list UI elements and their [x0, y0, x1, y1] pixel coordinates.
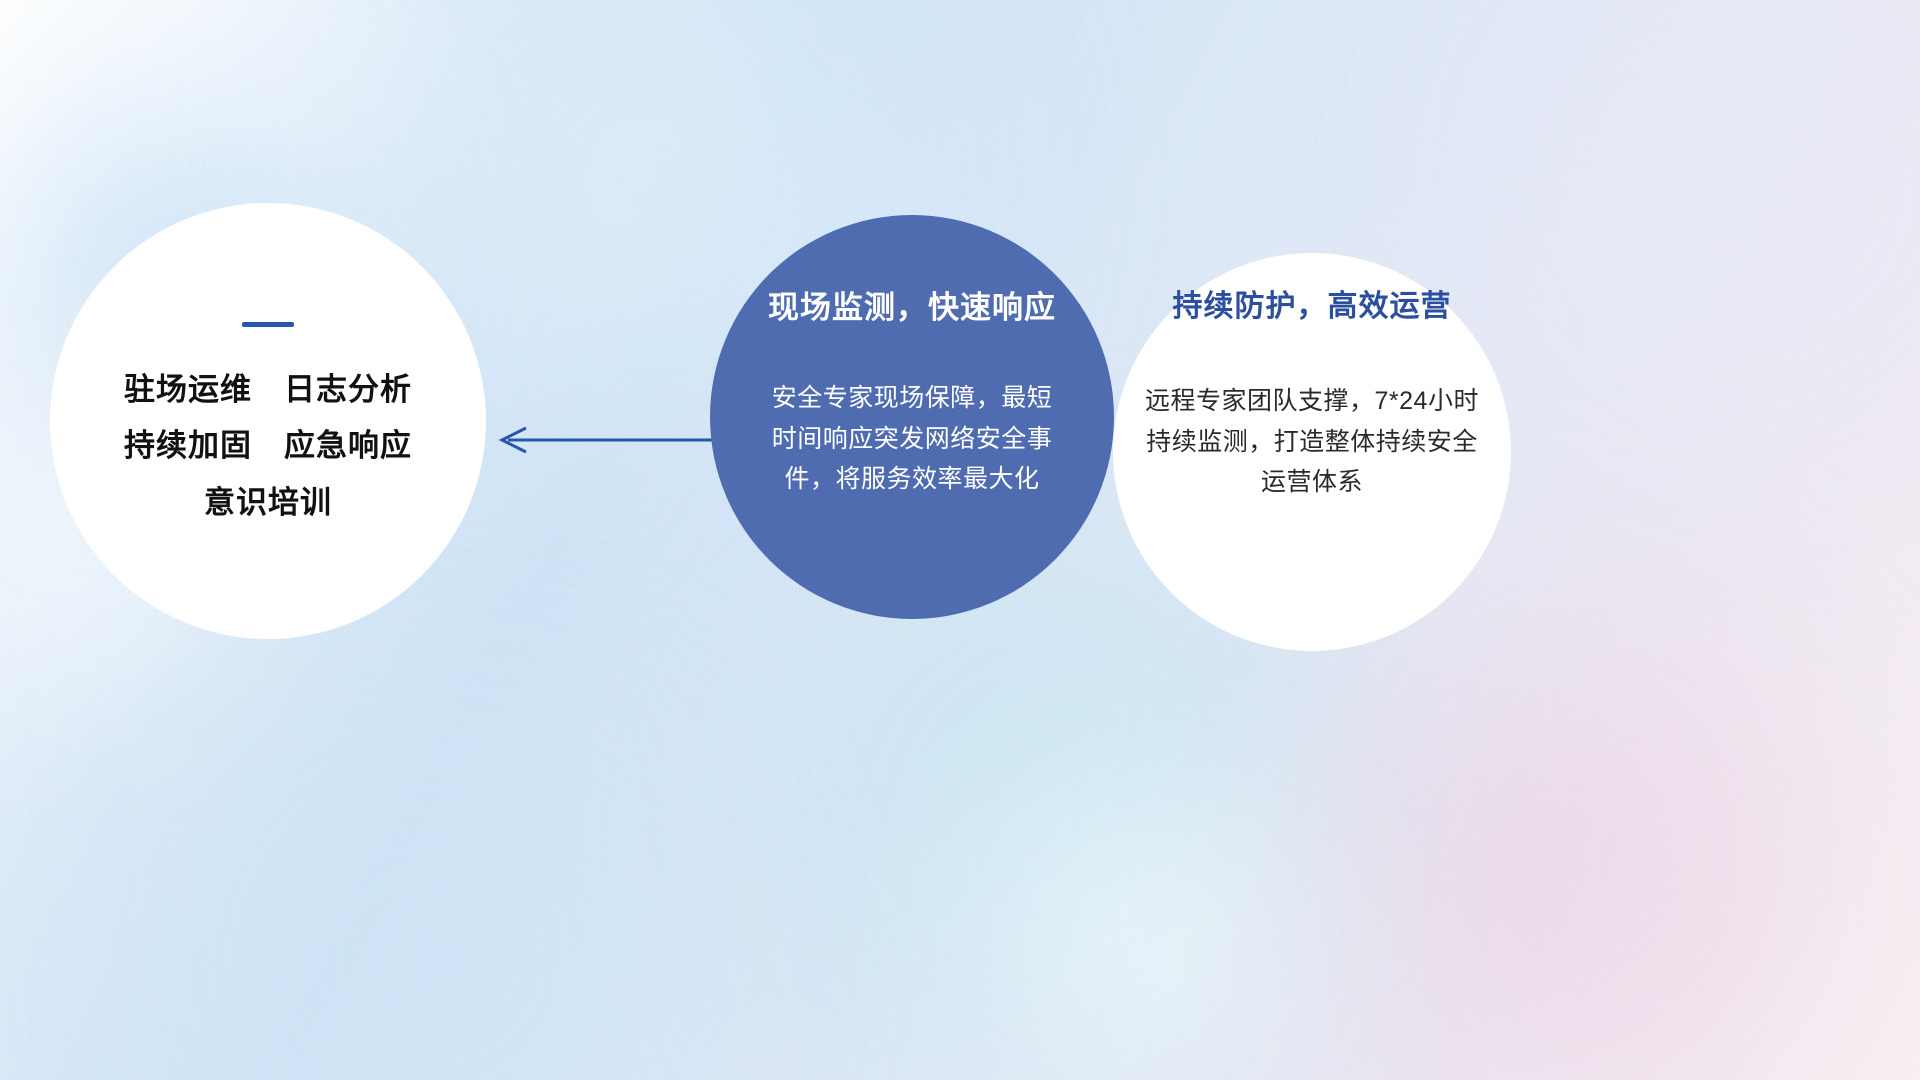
- capability-line-2: 持续加固 应急响应: [124, 429, 412, 463]
- right-circle-body: 远程专家团队支撑，7*24小时持续监测，打造整体持续安全运营体系: [1142, 381, 1482, 503]
- middle-circle-body: 安全专家现场保障，最短时间响应突发网络安全事件，将服务效率最大化: [762, 378, 1062, 500]
- capability-line-3: 意识培训: [204, 486, 332, 520]
- middle-circle-title: 现场监测，快速响应: [768, 289, 1056, 326]
- right-circle-title: 持续防护，高效运营: [1173, 289, 1452, 325]
- title-divider: [242, 322, 294, 327]
- middle-onsite-circle: 现场监测，快速响应 安全专家现场保障，最短时间响应突发网络安全事件，将服务效率最…: [710, 215, 1114, 619]
- capability-line-1: 驻场运维 日志分析: [124, 373, 412, 407]
- right-operations-circle: 持续防护，高效运营 远程专家团队支撑，7*24小时持续监测，打造整体持续安全运营…: [1113, 253, 1511, 651]
- capability-list: 驻场运维 日志分析 持续加固 应急响应 意识培训: [124, 373, 412, 519]
- left-capability-circle: 驻场运维 日志分析 持续加固 应急响应 意识培训: [50, 203, 486, 639]
- slide-canvas: 驻场运维 日志分析 持续加固 应急响应 意识培训 现场监测，快速响应 安全专家现…: [0, 0, 1920, 1080]
